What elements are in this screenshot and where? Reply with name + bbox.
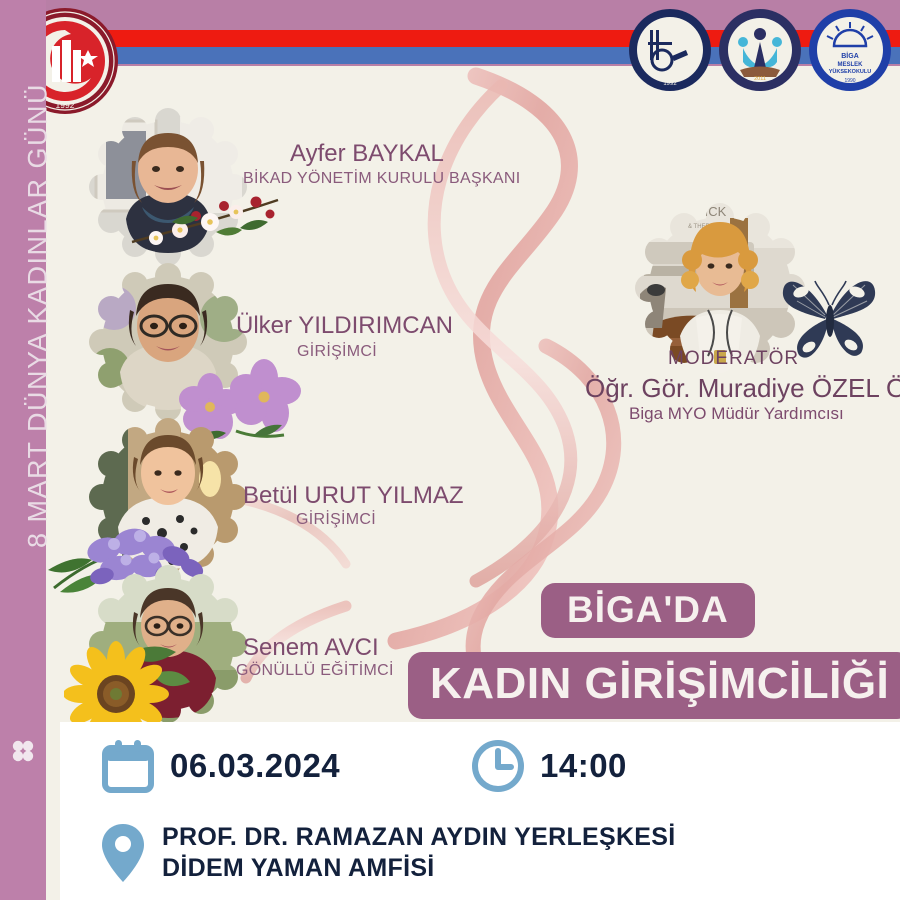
event-poster: 1992 1992 2011 — [0, 0, 900, 900]
flower-emblem-icon — [10, 738, 36, 764]
speaker-role-3: GÖNÜLLÜ EĞİTİMCİ — [236, 662, 394, 680]
svg-text:2011: 2011 — [754, 76, 766, 82]
calendar-icon — [100, 738, 156, 794]
location-pin-icon — [100, 822, 146, 884]
event-time-value: 14:00 — [540, 747, 627, 785]
biga-uygulamali-bilimler-fakultesi-logo: 2011 — [718, 8, 802, 92]
event-location-line-2: DİDEM YAMAN AMFİSİ — [162, 853, 676, 884]
speaker-role-2: GİRİŞİMCİ — [296, 511, 376, 529]
title-line-2: KADIN GİRİŞİMCİLİĞİ — [408, 652, 900, 719]
speaker-role-1: GİRİŞİMCİ — [297, 343, 377, 361]
event-date-value: 06.03.2024 — [170, 747, 340, 785]
speaker-name-3: Senem AVCI — [243, 634, 379, 662]
title-line-1: BİGA'DA — [541, 583, 755, 638]
speaker-photo-senem-avci — [84, 560, 252, 728]
svg-text:PICK: PICK — [696, 204, 727, 219]
svg-text:1992: 1992 — [663, 81, 677, 87]
speaker-name-1: Ülker YILDIRIMCAN — [236, 312, 453, 340]
svg-text:YÜKSEKOKULU: YÜKSEKOKULU — [829, 68, 872, 75]
speaker-photo-ulker-yildirimcan — [84, 258, 252, 426]
event-location-row: PROF. DR. RAMAZAN AYDIN YERLEŞKESİ DİDEM… — [100, 822, 676, 885]
moderator-name: Öğr. Gör. Muradiye ÖZEL ÖDÜL — [585, 373, 900, 404]
svg-text:BİGA: BİGA — [841, 52, 859, 60]
biga-iktisadi-idari-bilimler-fakultesi-logo: 1992 — [628, 8, 712, 92]
speaker-name-0: Ayfer BAYKAL — [290, 140, 444, 168]
moderator-label: MODERATÖR — [668, 348, 799, 370]
svg-text:1990: 1990 — [844, 78, 855, 84]
sidebar-vertical-banner: 8 MART DÜNYA KADINLAR GÜNÜ — [0, 0, 46, 900]
event-time-row: 14:00 — [470, 738, 627, 794]
event-location-text: PROF. DR. RAMAZAN AYDIN YERLEŞKESİ DİDEM… — [162, 822, 676, 885]
speaker-photo-ayfer-baykal — [84, 103, 252, 271]
speaker-name-2: Betül URUT YILMAZ — [243, 482, 464, 510]
event-date-row: 06.03.2024 — [100, 738, 340, 794]
svg-text:1992: 1992 — [56, 100, 75, 110]
womens-day-vertical-text: 8 MART DÜNYA KADINLAR GÜNÜ — [23, 0, 54, 636]
svg-text:MESLEK: MESLEK — [837, 62, 863, 68]
speaker-role-0: BİKAD YÖNETİM KURULU BAŞKANI — [243, 170, 521, 188]
moderator-subtitle: Biga MYO Müdür Yardımcısı — [629, 404, 844, 424]
speaker-photo-betul-urut-yilmaz — [84, 413, 252, 581]
secondary-logos-row: 1992 2011 BİGA MESLEK YÜKSEKOKU — [628, 8, 892, 92]
event-location-line-1: PROF. DR. RAMAZAN AYDIN YERLEŞKESİ — [162, 822, 676, 853]
biga-meslek-yuksekokulu-logo: BİGA MESLEK YÜKSEKOKULU 1990 — [808, 8, 892, 92]
clock-icon — [470, 738, 526, 794]
